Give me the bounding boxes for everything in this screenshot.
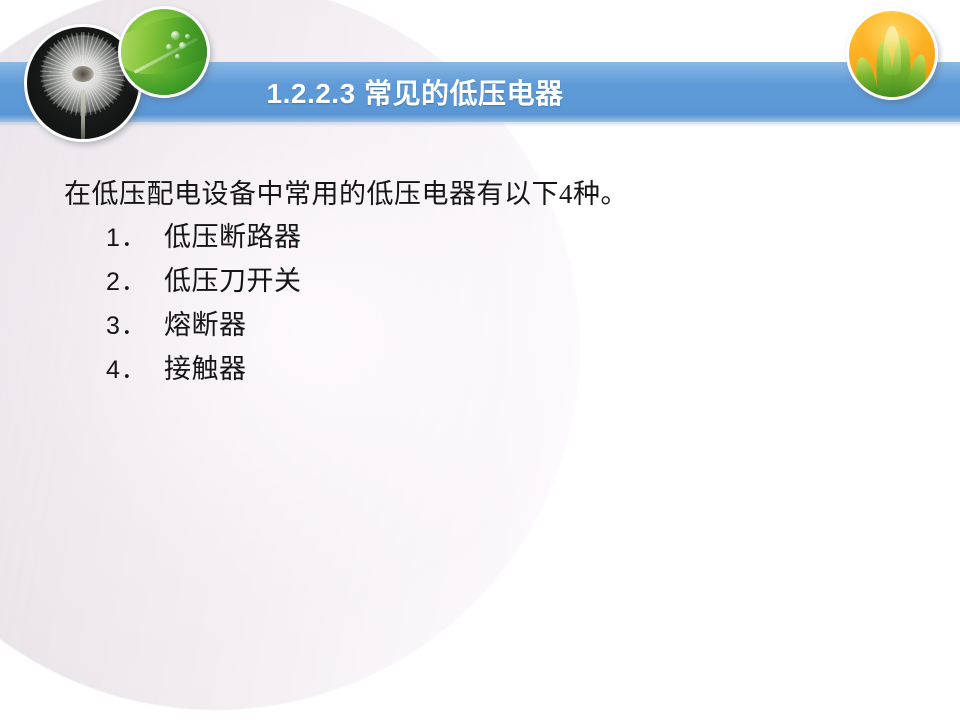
list-item-number: 3．	[106, 314, 164, 339]
water-droplet-icon	[185, 34, 190, 39]
list-item-number: 1．	[106, 226, 164, 251]
list-item-number: 2．	[106, 270, 164, 295]
dandelion-stem	[81, 90, 85, 142]
intro-paragraph: 在低压配电设备中常用的低压电器有以下4种。	[64, 178, 904, 210]
list-item-label: 低压刀开关	[164, 268, 302, 295]
list-item: 3． 熔断器	[106, 312, 904, 339]
list-item-label: 低压断路器	[164, 224, 302, 251]
dandelion-core	[72, 66, 94, 82]
green-leaf-photo-icon	[118, 6, 210, 98]
numbered-list: 1． 低压断路器 2． 低压刀开关 3． 熔断器 4． 接触器	[64, 224, 904, 383]
tulip-center-highlight	[883, 26, 900, 74]
water-droplet-icon	[175, 54, 180, 59]
list-item-label: 熔断器	[164, 312, 247, 339]
list-item: 2． 低压刀开关	[106, 268, 904, 295]
tulip-photo-icon	[846, 8, 938, 100]
leaf-blade	[118, 6, 210, 90]
water-droplet-icon	[166, 44, 172, 50]
list-item: 4． 接触器	[106, 356, 904, 383]
list-item-label: 接触器	[164, 356, 247, 383]
list-item: 1． 低压断路器	[106, 224, 904, 251]
header-band-shadow	[0, 122, 960, 127]
slide-body: 在低压配电设备中常用的低压电器有以下4种。 1． 低压断路器 2． 低压刀开关 …	[64, 178, 904, 400]
list-item-number: 4．	[106, 358, 164, 383]
presentation-slide: 1.2.2.3 常见的低压电器 在低压配电设备中常用的低压电器有以下4种。 1．…	[0, 0, 960, 720]
